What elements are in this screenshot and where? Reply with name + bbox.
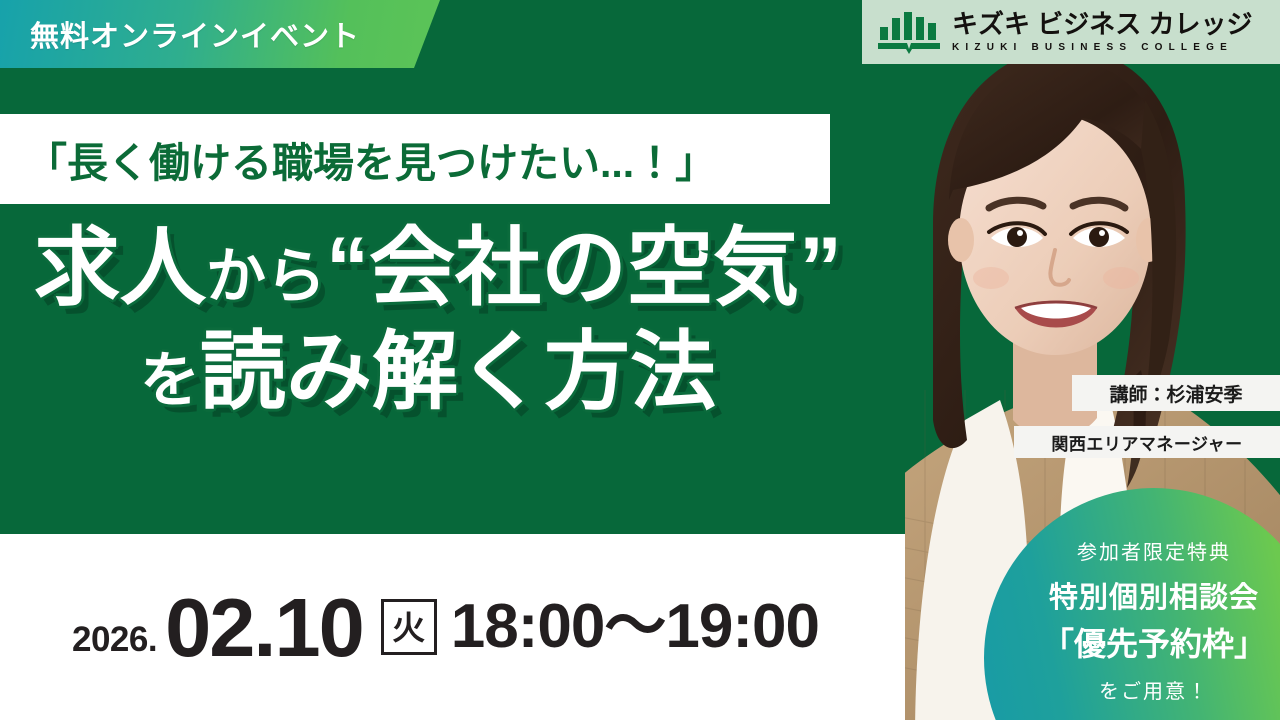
headline-1c: “会社の空気”	[326, 220, 842, 316]
perk-line-4: をご用意！	[1099, 675, 1209, 704]
subtitle-text: 「長く働ける職場を見つけたい...！」	[0, 129, 716, 189]
book-bars-logo-icon	[876, 10, 942, 54]
perk-line-2: 特別個別相談会	[1049, 574, 1259, 616]
free-event-ribbon: 無料オンラインイベント	[0, 0, 440, 68]
brand-name-jp: キズキ ビジネス カレッジ	[952, 11, 1252, 38]
subtitle-banner: 「長く働ける職場を見つけたい...！」	[0, 114, 830, 204]
brand-logo-text: キズキ ビジネス カレッジ KIZUKI BUSINESS COLLEGE	[952, 11, 1252, 52]
headline-1b: から	[206, 243, 326, 310]
headline-line-2: を読み解く方法	[0, 329, 960, 415]
headline-1a: 求人	[34, 220, 206, 316]
speaker-name-text: 講師：杉浦安季	[1109, 380, 1242, 407]
ribbon-label: 無料オンラインイベント	[0, 13, 360, 55]
speaker-name-tag: 講師：杉浦安季	[1072, 375, 1280, 411]
headline-2a: を	[140, 347, 200, 414]
schedule-row: 2026. 02.10 火 18:00〜19:00	[0, 534, 900, 720]
headline-line-1: 求人から“会社の空気”	[0, 225, 960, 311]
schedule-day-of-week: 火	[392, 611, 425, 644]
perk-line-3: 「優先予約枠」	[1042, 619, 1266, 665]
perk-line-1: 参加者限定特典	[1077, 536, 1231, 565]
schedule-time: 18:00〜19:00	[451, 596, 819, 658]
schedule-year: 2026.	[72, 620, 157, 660]
speaker-role-text: 関西エリアマネージャー	[1051, 430, 1242, 455]
speaker-role-tag: 関西エリアマネージャー	[1014, 426, 1280, 458]
headline-2b: 読み解く方法	[200, 324, 716, 420]
schedule-day-of-week-box: 火	[381, 599, 437, 655]
headline: 求人から“会社の空気” を読み解く方法	[0, 225, 960, 415]
schedule-date: 02.10	[165, 586, 363, 669]
brand-logo: キズキ ビジネス カレッジ KIZUKI BUSINESS COLLEGE	[862, 0, 1280, 64]
brand-name-en: KIZUKI BUSINESS COLLEGE	[952, 42, 1252, 53]
event-banner: 無料オンラインイベント キズキ ビジネス カレッジ KIZUKI BUSINES…	[0, 0, 1280, 720]
